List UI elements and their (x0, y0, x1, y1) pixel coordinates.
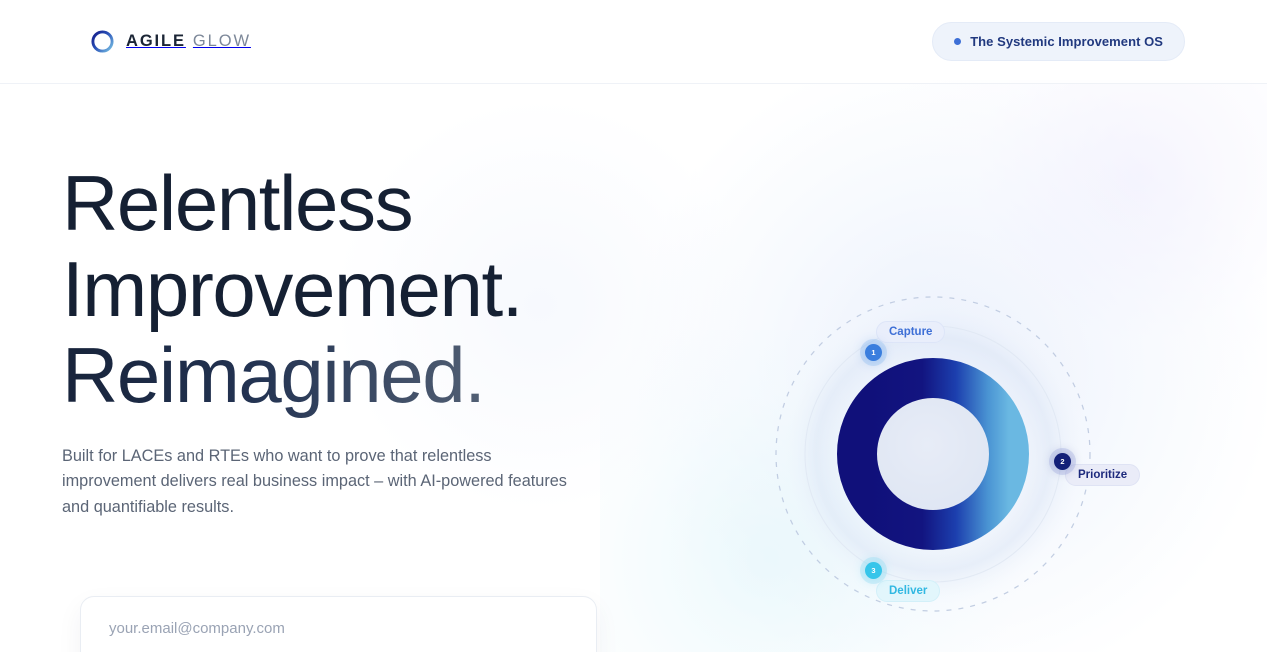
landing-page: AGILE GLOW The Systemic Improvement OS R… (0, 0, 1267, 652)
page-title: Relentless Improvement. Reimagined. (62, 160, 662, 418)
diagram-label-capture[interactable]: Capture (876, 321, 945, 343)
improvement-loop-diagram: Capture 1 Prioritize 2 Deliver 3 (745, 272, 1125, 652)
brand-word-glow: GLOW (193, 33, 251, 50)
diagram-node-1[interactable]: 1 (865, 344, 882, 361)
diagram-label-prioritize-text: Prioritize (1078, 469, 1127, 481)
diagram-node-2-number: 2 (1060, 457, 1064, 466)
email-input[interactable] (109, 613, 549, 643)
diagram-node-2[interactable]: 2 (1054, 453, 1071, 470)
diagram-label-deliver-text: Deliver (889, 585, 927, 597)
status-badge[interactable]: The Systemic Improvement OS (932, 22, 1185, 61)
email-signup-card (80, 596, 597, 652)
ring-logo-icon (90, 29, 115, 54)
diagram-node-1-number: 1 (871, 348, 875, 357)
diagram-label-capture-text: Capture (889, 326, 932, 338)
brand-word-agile: AGILE (126, 33, 186, 50)
headline-line-2: Improvement. (62, 246, 662, 332)
diagram-label-prioritize[interactable]: Prioritize (1065, 464, 1140, 486)
diagram-label-deliver[interactable]: Deliver (876, 580, 940, 602)
headline-line-1: Relentless (62, 160, 662, 246)
site-header: AGILE GLOW The Systemic Improvement OS (0, 0, 1267, 84)
diagram-node-3-number: 3 (871, 566, 875, 575)
hero-section: Relentless Improvement. Reimagined. Buil… (62, 160, 662, 520)
hero-subcopy: Built for LACEs and RTEs who want to pro… (62, 444, 567, 520)
headline-line-3: Reimagined. (62, 332, 662, 418)
status-badge-label: The Systemic Improvement OS (970, 34, 1163, 49)
brand-logo-link[interactable]: AGILE GLOW (90, 29, 251, 54)
diagram-node-3[interactable]: 3 (865, 562, 882, 579)
brand-wordmark: AGILE GLOW (126, 33, 251, 50)
blue-dot-icon (954, 38, 961, 45)
